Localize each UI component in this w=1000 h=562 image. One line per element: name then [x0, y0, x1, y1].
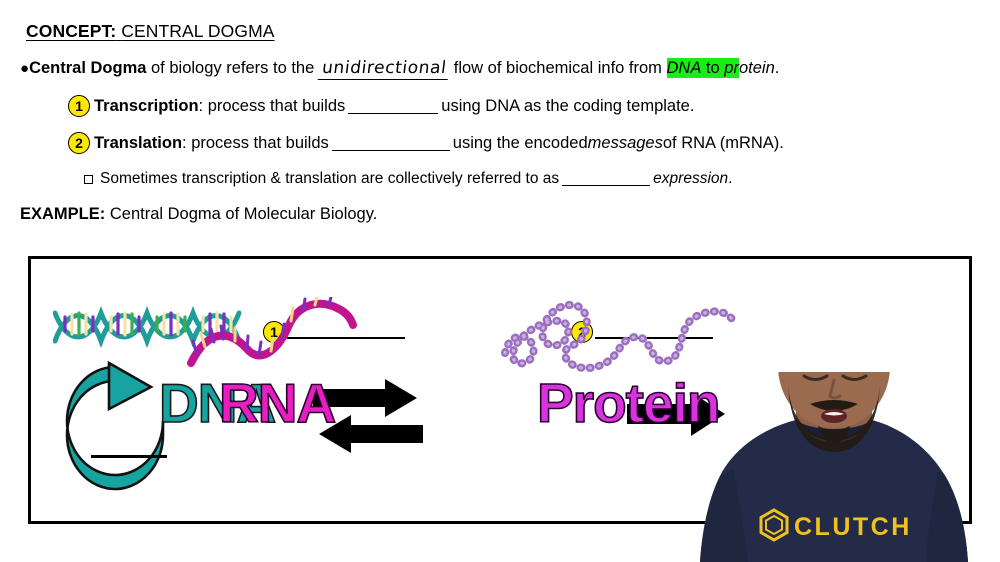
- answer-blank-3: [562, 172, 650, 187]
- bullet-text-mid: flow of biochemical info from: [449, 59, 666, 77]
- item-text-after-1: using DNA as the coding template.: [441, 97, 694, 116]
- item-text-after-2a: using the encoded: [453, 134, 588, 153]
- sub-period: .: [728, 170, 732, 188]
- highlight-dna: DNA: [667, 59, 702, 77]
- example-heading: EXAMPLE: Central Dogma of Molecular Biol…: [20, 205, 377, 224]
- answer-blank-1: [348, 98, 438, 114]
- example-text: Central Dogma of Molecular Biology.: [105, 205, 377, 223]
- circle-number-1: 1: [68, 95, 90, 117]
- concept-label: CONCEPT:: [26, 21, 116, 41]
- list-item-transcription: 1Transcription: process that builds usin…: [68, 95, 694, 117]
- bullet-text-before: of biology refers to the: [146, 59, 318, 77]
- concept-heading: CONCEPT: CENTRAL DOGMA: [26, 21, 275, 42]
- item-term-translation: Translation: [94, 134, 182, 153]
- handwritten-answer: unidirectional: [318, 58, 451, 80]
- item-text-after-2b: of RNA (mRNA).: [663, 134, 784, 153]
- item-italic-messages: messages: [588, 134, 663, 153]
- bullet-term: Central Dogma: [29, 59, 146, 77]
- circle-number-2: 2: [68, 132, 90, 154]
- bullet-period: .: [775, 59, 780, 77]
- central-dogma-diagram-panel: DNA 1 2: [28, 256, 972, 524]
- concept-title: CENTRAL DOGMA: [121, 21, 274, 41]
- square-bullet-icon: [84, 175, 93, 184]
- item-term-transcription: Transcription: [94, 97, 199, 116]
- rna-label: RNA: [219, 371, 335, 435]
- sub-italic-expression: expression: [653, 170, 728, 188]
- item-text-before-2: : process that builds: [182, 134, 329, 153]
- lecture-slide: CONCEPT: CENTRAL DOGMA ●Central Dogma of…: [0, 0, 1000, 562]
- answer-blank-2: [332, 135, 450, 151]
- sub-text-before: Sometimes transcription & translation ar…: [100, 170, 559, 188]
- dna-inner-blank: [91, 455, 167, 458]
- bullet-text-to: to: [701, 59, 724, 77]
- highlight-protein-part: pr: [724, 59, 739, 77]
- list-item-translation: 2Translation: process that builds using …: [68, 132, 784, 154]
- example-label: EXAMPLE:: [20, 205, 105, 223]
- item-text-before-1: : process that builds: [199, 97, 346, 116]
- bullet-dot-icon: ●: [20, 60, 29, 77]
- protein-rest: otein: [739, 59, 775, 77]
- rna-single-strand-icon: [187, 297, 357, 374]
- sub-bullet-gene-expression: Sometimes transcription & translation ar…: [84, 170, 732, 188]
- central-dogma-bullet: ●Central Dogma of biology refers to the …: [20, 58, 779, 80]
- protein-label: Protein: [537, 371, 719, 435]
